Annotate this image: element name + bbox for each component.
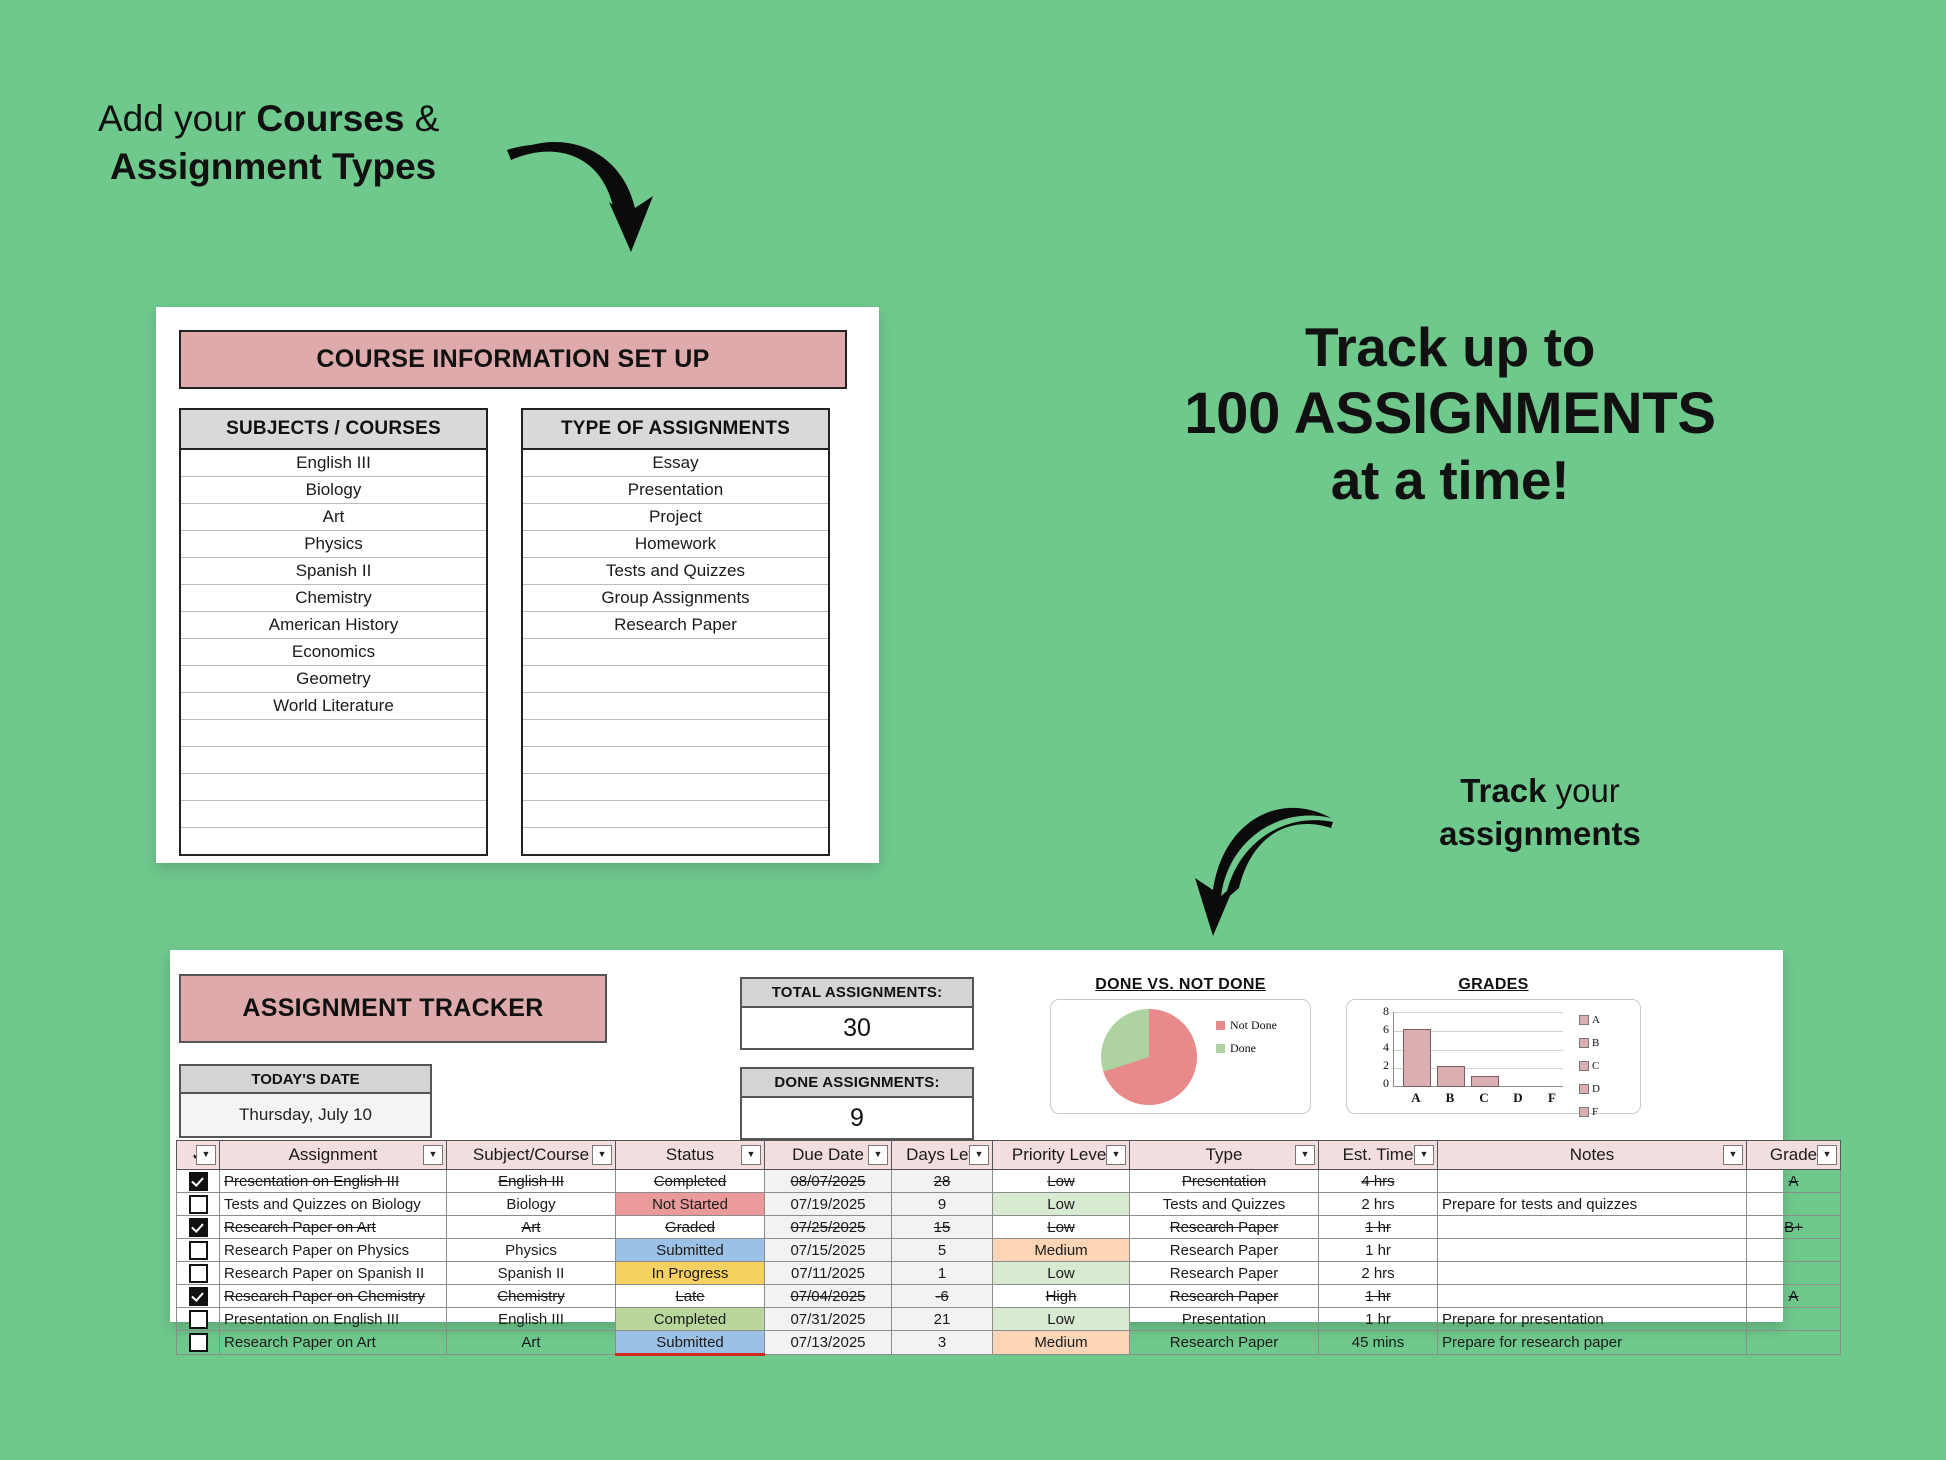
checkbox-unchecked-icon[interactable]	[189, 1333, 208, 1352]
column-header-due-date[interactable]: Due Date▼	[765, 1141, 892, 1170]
cell-assignment[interactable]: Research Paper on Spanish II	[220, 1262, 447, 1285]
cell-subject[interactable]: Biology	[447, 1193, 616, 1216]
callout-add-courses: Add your Courses & Assignment Types	[98, 95, 528, 191]
total-assignments-value: 30	[742, 1008, 972, 1048]
legend-label: C	[1592, 1060, 1599, 1072]
cell-status[interactable]: In Progress	[616, 1262, 765, 1285]
list-item[interactable]	[523, 747, 828, 774]
assignment-types-list: TYPE OF ASSIGNMENTS Essay Presentation P…	[521, 408, 830, 856]
cell-grade[interactable]	[1747, 1331, 1841, 1355]
assignment-tracker-card: ASSIGNMENT TRACKER TODAY'S DATE Thursday…	[170, 950, 1783, 1322]
cell-notes[interactable]	[1438, 1170, 1747, 1193]
done-assignments-label: DONE ASSIGNMENTS:	[742, 1069, 972, 1098]
cell-days-left: 21	[892, 1308, 993, 1331]
legend-swatch-a	[1579, 1015, 1589, 1025]
cell-type[interactable]: Presentation	[1130, 1170, 1319, 1193]
cell-grade[interactable]	[1747, 1193, 1841, 1216]
list-item[interactable]: Biology	[181, 477, 486, 504]
legend-swatch-f	[1579, 1107, 1589, 1117]
col-label: Due Date	[792, 1145, 864, 1164]
cell-type[interactable]: Research Paper	[1130, 1262, 1319, 1285]
checkbox-unchecked-icon[interactable]	[189, 1241, 208, 1260]
legend-label: B	[1592, 1037, 1599, 1049]
filter-icon[interactable]: ▼	[1295, 1145, 1315, 1165]
cell-due-date[interactable]: 07/19/2025	[765, 1193, 892, 1216]
hero-line3: at a time!	[1150, 448, 1750, 513]
subjects-list: SUBJECTS / COURSES English III Biology A…	[179, 408, 488, 856]
cell-subject[interactable]: Physics	[447, 1239, 616, 1262]
table-row[interactable]: Research Paper on Spanish IISpanish IIIn…	[177, 1262, 1841, 1285]
cell-type[interactable]: Presentation	[1130, 1308, 1319, 1331]
checkbox-unchecked-icon[interactable]	[189, 1310, 208, 1329]
y-tick: 2	[1383, 1058, 1389, 1073]
cell-est-time[interactable]: 1 hr	[1319, 1308, 1438, 1331]
filter-icon[interactable]: ▼	[1414, 1145, 1434, 1165]
list-item[interactable]	[181, 747, 486, 774]
checkbox-checked-icon[interactable]	[189, 1287, 208, 1306]
table-row[interactable]: Research Paper on ArtArtSubmitted07/13/2…	[177, 1331, 1841, 1355]
filter-icon[interactable]: ▼	[196, 1145, 216, 1165]
x-tick: B	[1446, 1090, 1455, 1106]
curved-arrow-down-left-icon	[1195, 800, 1335, 950]
filter-icon[interactable]: ▼	[868, 1145, 888, 1165]
col-label: Notes	[1570, 1145, 1614, 1164]
column-header-subject[interactable]: Subject/Course▼	[447, 1141, 616, 1170]
legend-label: Done	[1230, 1041, 1256, 1056]
col-label: Priority Level	[1012, 1145, 1110, 1164]
cell-type[interactable]: Research Paper	[1130, 1331, 1319, 1355]
list-item[interactable]	[523, 666, 828, 693]
callout-courses-plain: Add your	[98, 98, 256, 139]
bar-chart-box: 0 2 4 6 8 A	[1346, 999, 1641, 1114]
bar-chart-title: GRADES	[1346, 976, 1641, 994]
filter-icon[interactable]: ▼	[423, 1145, 443, 1165]
cell-days-left: 1	[892, 1262, 993, 1285]
subjects-list-header: SUBJECTS / COURSES	[181, 410, 486, 450]
row-checkbox-cell[interactable]	[177, 1216, 220, 1239]
column-header-grade[interactable]: Grade▼	[1747, 1141, 1841, 1170]
legend-item: Done	[1216, 1041, 1277, 1056]
y-tick: 4	[1383, 1040, 1389, 1055]
filter-icon[interactable]: ▼	[1817, 1145, 1837, 1165]
cell-priority[interactable]: Medium	[993, 1331, 1130, 1355]
bar-c	[1471, 1076, 1499, 1087]
col-label: Status	[666, 1145, 714, 1164]
cell-due-date[interactable]: 07/04/2025	[765, 1285, 892, 1308]
course-information-card: COURSE INFORMATION SET UP SUBJECTS / COU…	[156, 307, 879, 863]
table-row[interactable]: Research Paper on ChemistryChemistryLate…	[177, 1285, 1841, 1308]
callout-courses-line2: Assignment Types	[110, 143, 528, 191]
col-label: Subject/Course	[473, 1145, 589, 1164]
row-checkbox-cell[interactable]	[177, 1308, 220, 1331]
curved-arrow-down-icon	[505, 140, 655, 275]
cell-priority[interactable]: Low	[993, 1262, 1130, 1285]
cell-type[interactable]: Research Paper	[1130, 1216, 1319, 1239]
cell-due-date[interactable]: 07/11/2025	[765, 1262, 892, 1285]
list-item[interactable]	[523, 774, 828, 801]
done-assignments-box: DONE ASSIGNMENTS: 9	[740, 1067, 974, 1140]
cell-days-left: 3	[892, 1331, 993, 1355]
column-header-status[interactable]: Status▼	[616, 1141, 765, 1170]
table-row[interactable]: Presentation on English IIIEnglish IIICo…	[177, 1308, 1841, 1331]
cell-status[interactable]: Submitted	[616, 1239, 765, 1262]
col-label: Assignment	[289, 1145, 378, 1164]
cell-notes[interactable]: Prepare for presentation	[1438, 1308, 1747, 1331]
bar-chart-y-axis: 0 2 4 6 8	[1369, 1006, 1389, 1091]
cell-days-left: -6	[892, 1285, 993, 1308]
list-item[interactable]	[523, 828, 828, 854]
cell-subject[interactable]: Chemistry	[447, 1285, 616, 1308]
y-axis-line	[1393, 1012, 1394, 1087]
column-header-priority[interactable]: Priority Level▼	[993, 1141, 1130, 1170]
col-label: Type	[1206, 1145, 1243, 1164]
cell-priority[interactable]: Low	[993, 1193, 1130, 1216]
bar-chart-plot	[1393, 1012, 1563, 1087]
col-label: Est. Time	[1343, 1145, 1414, 1164]
total-assignments-box: TOTAL ASSIGNMENTS: 30	[740, 977, 974, 1050]
cell-est-time[interactable]: 4 hrs	[1319, 1170, 1438, 1193]
list-item[interactable]: Art	[181, 504, 486, 531]
filter-icon[interactable]: ▼	[1723, 1145, 1743, 1165]
cell-est-time[interactable]: 1 hr	[1319, 1216, 1438, 1239]
cell-assignment[interactable]: Presentation on English III	[220, 1308, 447, 1331]
list-item[interactable]: Project	[523, 504, 828, 531]
list-item[interactable]	[523, 801, 828, 828]
cell-due-date[interactable]: 07/13/2025	[765, 1331, 892, 1355]
x-tick: A	[1411, 1090, 1420, 1106]
cell-grade[interactable]: B+	[1747, 1216, 1841, 1239]
cell-status[interactable]: Graded	[616, 1216, 765, 1239]
filter-icon[interactable]: ▼	[1106, 1145, 1126, 1165]
todays-date-label: TODAY'S DATE	[181, 1066, 430, 1094]
grades-chart: GRADES 0 2 4 6 8	[1346, 976, 1641, 1114]
legend-label: A	[1592, 1014, 1600, 1026]
callout-track-bold: Track	[1460, 772, 1546, 809]
legend-swatch-d	[1579, 1084, 1589, 1094]
todays-date-box: TODAY'S DATE Thursday, July 10	[179, 1064, 432, 1138]
callout-track-assignments: Track your assignments	[1380, 770, 1700, 856]
cell-status[interactable]: Not Started	[616, 1193, 765, 1216]
checkbox-unchecked-icon[interactable]	[189, 1195, 208, 1214]
cell-notes[interactable]	[1438, 1285, 1747, 1308]
cell-notes[interactable]: Prepare for research paper	[1438, 1331, 1747, 1355]
table-header-row: ✓▼ Assignment▼ Subject/Course▼ Status▼ D…	[177, 1141, 1841, 1170]
bar-legend: A B C D F	[1579, 1014, 1600, 1129]
y-tick: 6	[1383, 1022, 1389, 1037]
cell-priority[interactable]: Medium	[993, 1239, 1130, 1262]
column-header-est-time[interactable]: Est. Time▼	[1319, 1141, 1438, 1170]
list-item[interactable]: English III	[181, 450, 486, 477]
list-item[interactable]: Group Assignments	[523, 585, 828, 612]
list-item[interactable]	[181, 828, 486, 854]
cell-grade[interactable]: A	[1747, 1285, 1841, 1308]
tracker-title: ASSIGNMENT TRACKER	[179, 974, 607, 1043]
cell-est-time[interactable]: 1 hr	[1319, 1285, 1438, 1308]
cell-notes[interactable]	[1438, 1262, 1747, 1285]
types-list-header: TYPE OF ASSIGNMENTS	[523, 410, 828, 450]
legend-item: Not Done	[1216, 1018, 1277, 1033]
pie-chart-title: DONE VS. NOT DONE	[1050, 976, 1311, 994]
list-item[interactable]	[523, 693, 828, 720]
legend-label: Not Done	[1230, 1018, 1277, 1033]
legend-item: F	[1579, 1106, 1600, 1118]
pie-chart-box: Not Done Done	[1050, 999, 1311, 1114]
pie-slices	[1101, 1009, 1197, 1105]
todays-date-value: Thursday, July 10	[181, 1094, 430, 1136]
x-tick: D	[1513, 1090, 1522, 1106]
table-row[interactable]: Research Paper on ArtArtGraded07/25/2025…	[177, 1216, 1841, 1239]
bar-chart-x-axis: A B C D F	[1393, 1090, 1563, 1106]
list-item[interactable]	[181, 801, 486, 828]
gridline	[1393, 1012, 1563, 1013]
total-assignments-label: TOTAL ASSIGNMENTS:	[742, 979, 972, 1008]
cell-status[interactable]: Late	[616, 1285, 765, 1308]
x-tick: C	[1479, 1090, 1488, 1106]
cell-assignment[interactable]: Research Paper on Art	[220, 1216, 447, 1239]
list-item[interactable]	[523, 639, 828, 666]
cell-notes[interactable]	[1438, 1239, 1747, 1262]
y-tick: 0	[1383, 1076, 1389, 1091]
cell-status[interactable]: Completed	[616, 1308, 765, 1331]
row-checkbox-cell[interactable]	[177, 1170, 220, 1193]
column-header-assignment[interactable]: Assignment▼	[220, 1141, 447, 1170]
list-item[interactable]: Spanish II	[181, 558, 486, 585]
filter-icon[interactable]: ▼	[592, 1145, 612, 1165]
cell-notes[interactable]	[1438, 1216, 1747, 1239]
legend-item: D	[1579, 1083, 1600, 1095]
row-checkbox-cell[interactable]	[177, 1262, 220, 1285]
cell-priority[interactable]: Low	[993, 1308, 1130, 1331]
cell-due-date[interactable]: 07/31/2025	[765, 1308, 892, 1331]
cell-assignment[interactable]: Research Paper on Art	[220, 1331, 447, 1355]
list-item[interactable]: Essay	[523, 450, 828, 477]
list-item[interactable]: American History	[181, 612, 486, 639]
x-tick: F	[1548, 1090, 1556, 1106]
cell-days-left: 5	[892, 1239, 993, 1262]
cell-priority[interactable]: Low	[993, 1216, 1130, 1239]
legend-swatch-done	[1216, 1044, 1225, 1053]
list-item[interactable]: Physics	[181, 531, 486, 558]
table-row[interactable]: Tests and Quizzes on BiologyBiologyNot S…	[177, 1193, 1841, 1216]
cell-type[interactable]: Tests and Quizzes	[1130, 1193, 1319, 1216]
list-item[interactable]: Homework	[523, 531, 828, 558]
poster-stage: Add your Courses & Assignment Types Trac…	[0, 0, 1946, 1460]
cell-status[interactable]: Submitted	[616, 1331, 765, 1355]
legend-label: D	[1592, 1083, 1600, 1095]
cell-subject[interactable]: Spanish II	[447, 1262, 616, 1285]
callout-courses-bold: Courses	[256, 98, 404, 139]
hero-line1: Track up to	[1150, 315, 1750, 380]
list-item[interactable]	[523, 720, 828, 747]
cell-priority[interactable]: High	[993, 1285, 1130, 1308]
legend-label: F	[1592, 1106, 1598, 1118]
list-item[interactable]: Presentation	[523, 477, 828, 504]
checkbox-checked-icon[interactable]	[189, 1172, 208, 1191]
cell-due-date[interactable]: 08/07/2025	[765, 1170, 892, 1193]
cell-subject[interactable]: English III	[447, 1170, 616, 1193]
cell-assignment[interactable]: Research Paper on Chemistry	[220, 1285, 447, 1308]
legend-item: A	[1579, 1014, 1600, 1026]
legend-swatch-not-done	[1216, 1021, 1225, 1030]
list-item[interactable]: Economics	[181, 639, 486, 666]
column-header-notes[interactable]: Notes▼	[1438, 1141, 1747, 1170]
row-checkbox-cell[interactable]	[177, 1285, 220, 1308]
hero-line2: 100 ASSIGNMENTS	[1150, 380, 1750, 448]
cell-subject[interactable]: Art	[447, 1216, 616, 1239]
done-assignments-value: 9	[742, 1098, 972, 1138]
cell-priority[interactable]: Low	[993, 1170, 1130, 1193]
cell-assignment[interactable]: Tests and Quizzes on Biology	[220, 1193, 447, 1216]
filter-icon[interactable]: ▼	[741, 1145, 761, 1165]
course-card-title: COURSE INFORMATION SET UP	[179, 330, 847, 389]
legend-swatch-c	[1579, 1061, 1589, 1071]
row-checkbox-cell[interactable]	[177, 1331, 220, 1355]
cell-assignment[interactable]: Research Paper on Physics	[220, 1239, 447, 1262]
bar-a	[1403, 1029, 1431, 1087]
cell-status[interactable]: Completed	[616, 1170, 765, 1193]
callout-track-line2: assignments	[1380, 813, 1700, 856]
list-item[interactable]	[181, 720, 486, 747]
list-item[interactable]: Geometry	[181, 666, 486, 693]
col-label: Days Left	[906, 1145, 978, 1164]
list-item[interactable]: Research Paper	[523, 612, 828, 639]
cell-days-left: 28	[892, 1170, 993, 1193]
pie-legend: Not Done Done	[1216, 1018, 1277, 1064]
cell-est-time[interactable]: 2 hrs	[1319, 1262, 1438, 1285]
column-header-check[interactable]: ✓▼	[177, 1141, 220, 1170]
legend-item: C	[1579, 1060, 1600, 1072]
table-row[interactable]: Research Paper on PhysicsPhysicsSubmitte…	[177, 1239, 1841, 1262]
cell-est-time[interactable]: 45 mins	[1319, 1331, 1438, 1355]
cell-due-date[interactable]: 07/25/2025	[765, 1216, 892, 1239]
assignments-table-body: Presentation on English IIIEnglish IIICo…	[177, 1170, 1841, 1355]
cell-type[interactable]: Research Paper	[1130, 1285, 1319, 1308]
row-checkbox-cell[interactable]	[177, 1239, 220, 1262]
cell-grade[interactable]	[1747, 1262, 1841, 1285]
list-item[interactable]	[181, 774, 486, 801]
cell-days-left: 9	[892, 1193, 993, 1216]
cell-grade[interactable]: A	[1747, 1170, 1841, 1193]
list-item[interactable]: Tests and Quizzes	[523, 558, 828, 585]
assignments-table: ✓▼ Assignment▼ Subject/Course▼ Status▼ D…	[176, 1140, 1841, 1356]
list-item[interactable]: Chemistry	[181, 585, 486, 612]
column-header-days-left[interactable]: Days Left▼	[892, 1141, 993, 1170]
column-header-type[interactable]: Type▼	[1130, 1141, 1319, 1170]
checkbox-checked-icon[interactable]	[189, 1218, 208, 1237]
checkbox-unchecked-icon[interactable]	[189, 1264, 208, 1283]
done-vs-not-done-chart: DONE VS. NOT DONE Not Done Done	[1050, 976, 1311, 1114]
row-checkbox-cell[interactable]	[177, 1193, 220, 1216]
list-item[interactable]: World Literature	[181, 693, 486, 720]
cell-grade[interactable]	[1747, 1308, 1841, 1331]
callout-track-plain: your	[1546, 772, 1619, 809]
y-tick: 8	[1383, 1004, 1389, 1019]
cell-due-date[interactable]: 07/15/2025	[765, 1239, 892, 1262]
hero-text: Track up to 100 ASSIGNMENTS at a time!	[1150, 315, 1750, 513]
legend-swatch-b	[1579, 1038, 1589, 1048]
col-label: Grade	[1770, 1145, 1817, 1164]
cell-days-left: 15	[892, 1216, 993, 1239]
table-row[interactable]: Presentation on English IIIEnglish IIICo…	[177, 1170, 1841, 1193]
cell-est-time[interactable]: 2 hrs	[1319, 1193, 1438, 1216]
filter-icon[interactable]: ▼	[969, 1145, 989, 1165]
cell-type[interactable]: Research Paper	[1130, 1239, 1319, 1262]
callout-courses-tail: &	[404, 98, 439, 139]
cell-est-time[interactable]: 1 hr	[1319, 1239, 1438, 1262]
cell-subject[interactable]: Art	[447, 1331, 616, 1355]
cell-subject[interactable]: English III	[447, 1308, 616, 1331]
bar-b	[1437, 1066, 1465, 1087]
cell-grade[interactable]	[1747, 1239, 1841, 1262]
cell-assignment[interactable]: Presentation on English III	[220, 1170, 447, 1193]
cell-notes[interactable]: Prepare for tests and quizzes	[1438, 1193, 1747, 1216]
legend-item: B	[1579, 1037, 1600, 1049]
